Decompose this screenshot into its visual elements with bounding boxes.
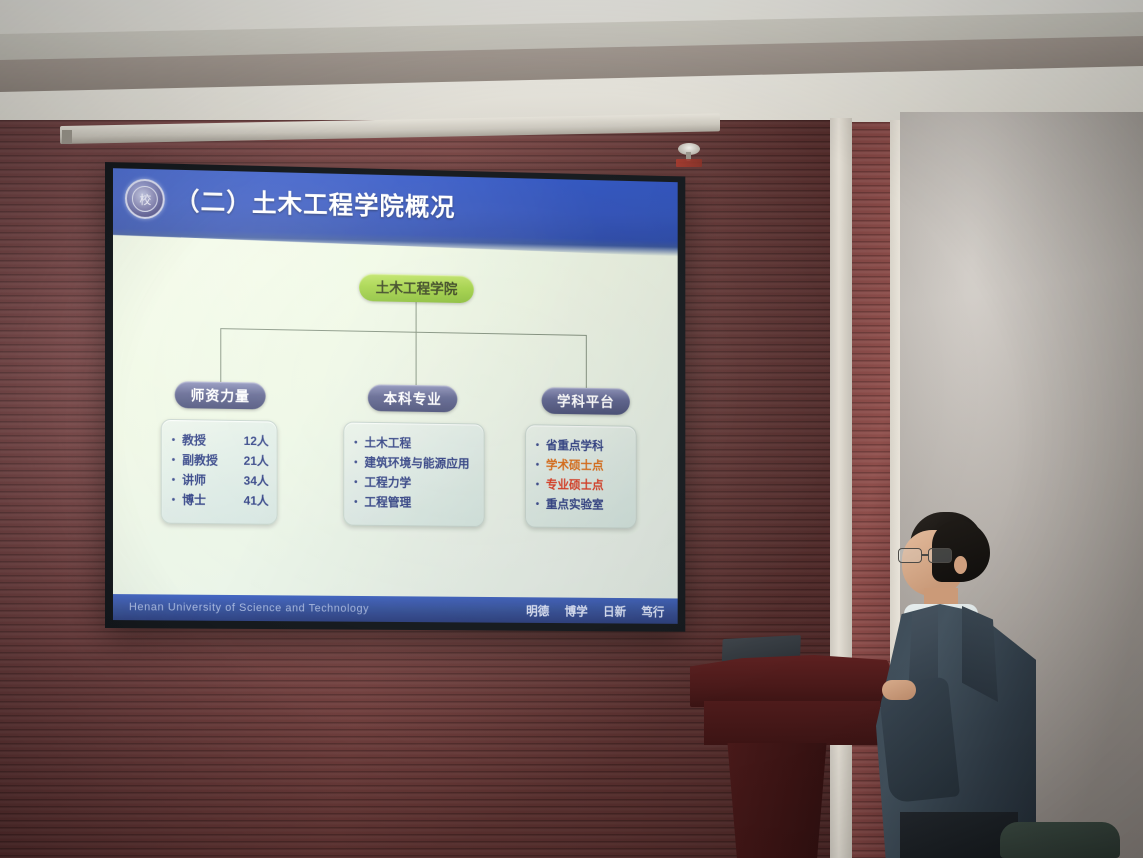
glasses-lens-right (928, 548, 952, 563)
list-item: • 土木工程 (354, 434, 476, 455)
bullet-icon: • (172, 491, 175, 510)
list-item: • 副教授 21人 (172, 451, 269, 472)
list-item: • 教授 12人 (172, 431, 269, 452)
glasses-bridge (922, 554, 929, 556)
item-value: 34人 (239, 472, 269, 491)
org-node-root: 土木工程学院 (359, 273, 474, 303)
bullet-icon: • (536, 495, 539, 514)
motto-word-2: 博学 (565, 602, 588, 619)
motto-word-4: 笃行 (641, 603, 664, 620)
bullet-icon: • (536, 475, 539, 494)
podium-middle (704, 701, 880, 745)
wooden-podium (690, 655, 890, 858)
glasses-lens-left (898, 548, 922, 563)
bullet-icon: • (354, 434, 357, 453)
item-label: 工程管理 (364, 493, 411, 512)
item-label: 重点实验室 (546, 495, 604, 514)
item-label: 建筑环境与能源应用 (364, 454, 469, 474)
chair (1000, 822, 1120, 858)
motto-word-3: 日新 (603, 602, 626, 619)
list-item: • 博士 41人 (172, 491, 269, 512)
list-item: • 工程管理 (354, 493, 476, 514)
item-label: 讲师 (182, 471, 222, 490)
podium-top (690, 655, 890, 707)
bullet-icon: • (536, 436, 539, 455)
podium-base (718, 743, 836, 858)
connector-root-vertical (416, 302, 417, 332)
university-seal-icon: 校 (125, 178, 165, 219)
item-value: 41人 (239, 492, 269, 511)
list-item: • 建筑环境与能源应用 (354, 453, 476, 474)
list-item: • 学术硕士点 (536, 456, 628, 477)
list-item: • 省重点学科 (536, 436, 628, 457)
item-value: 21人 (239, 452, 269, 471)
org-chart: 土木工程学院 师资力量 本科专业 学科平台 • 教授 12人 • 副教授 (113, 230, 678, 590)
item-label: 土木工程 (364, 434, 411, 453)
bullet-icon: • (354, 473, 357, 492)
presentation-slide: 校 （二）土木工程学院概况 土木工程学院 师资力量 本科专业 学科平台 • (113, 168, 678, 624)
glasses-icon (898, 548, 960, 564)
bullet-icon: • (172, 431, 175, 450)
item-label: 省重点学科 (546, 436, 604, 455)
list-item: • 讲师 34人 (172, 471, 269, 492)
presenter-hand (882, 680, 916, 700)
slide-title: （二）土木工程学院概况 (175, 182, 456, 224)
connector-horizontal (220, 328, 586, 336)
footer-motto: 明德 博学 日新 笃行 (526, 602, 664, 620)
connector-branch-2 (416, 332, 417, 385)
item-value: 12人 (239, 432, 269, 451)
bullet-icon: • (354, 453, 357, 472)
bullet-icon: • (354, 493, 357, 512)
bullet-icon: • (172, 451, 175, 470)
projector-screen-roller-end (62, 130, 72, 144)
connector-branch-3 (586, 335, 587, 388)
slide-title-bar: 校 （二）土木工程学院概况 (113, 168, 678, 241)
lecture-room: 校 （二）土木工程学院概况 土木工程学院 师资力量 本科专业 学科平台 • (0, 0, 1143, 858)
item-label: 副教授 (182, 451, 222, 470)
list-item: • 工程力学 (354, 473, 476, 494)
item-label: 专业硕士点 (546, 476, 604, 495)
item-label: 博士 (182, 491, 222, 510)
slide-footer: Henan University of Science and Technolo… (113, 594, 678, 624)
presenter (880, 512, 1050, 858)
connector-branch-1 (220, 328, 221, 382)
motto-word-1: 明德 (526, 602, 549, 619)
footer-university-name: Henan University of Science and Technolo… (129, 601, 369, 615)
org-card-platforms: • 省重点学科 • 学术硕士点 • 专业硕士点 • (525, 424, 636, 528)
org-card-faculty: • 教授 12人 • 副教授 21人 • 讲师 34人 (161, 419, 278, 525)
item-label: 教授 (182, 431, 222, 450)
bullet-icon: • (536, 456, 539, 475)
item-label: 工程力学 (364, 473, 411, 492)
org-node-branch-1: 师资力量 (175, 381, 266, 409)
org-node-branch-3: 学科平台 (542, 387, 630, 415)
roller-brand-badge (676, 159, 702, 167)
university-seal-glyph: 校 (132, 186, 158, 213)
bullet-icon: • (172, 471, 175, 490)
org-card-majors: • 土木工程 • 建筑环境与能源应用 • 工程力学 • (343, 422, 484, 528)
list-item: • 专业硕士点 (536, 475, 628, 496)
list-item: • 重点实验室 (536, 495, 628, 516)
projector-screen[interactable]: 校 （二）土木工程学院概况 土木工程学院 师资力量 本科专业 学科平台 • (105, 162, 685, 632)
item-label: 学术硕士点 (546, 456, 604, 475)
org-node-branch-2: 本科专业 (368, 384, 458, 412)
